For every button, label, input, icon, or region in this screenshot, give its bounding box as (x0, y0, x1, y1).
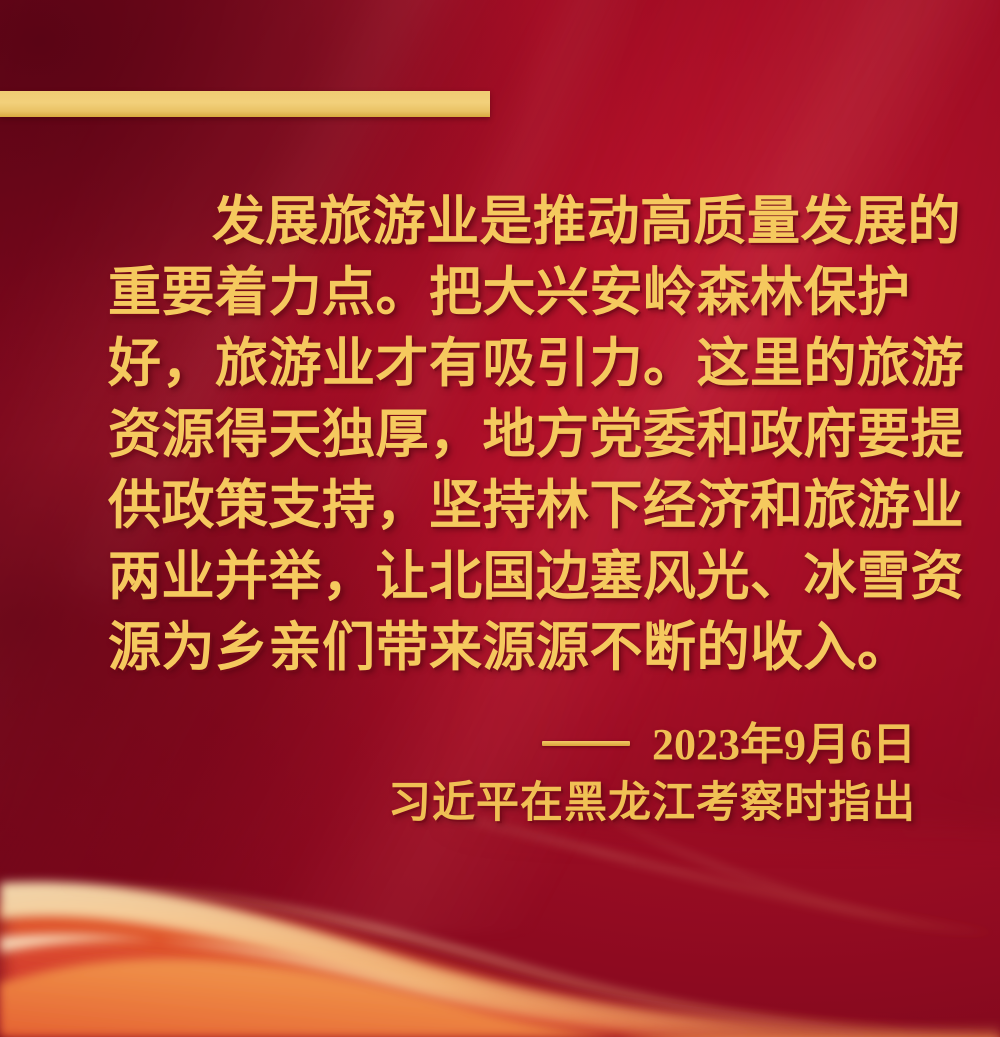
quote-line-4: 资源得天独厚，地方党委和政府要提 (108, 399, 920, 470)
quote-line-1: 发展旅游业是推动高质量发展的 (108, 186, 920, 257)
quote-line-2: 重要着力点。把大兴安岭森林保护 (108, 257, 920, 328)
quote-line-3: 好，旅游业才有吸引力。这里的旅游 (108, 328, 920, 399)
attribution-date-row: 2023年9月6日 (388, 716, 916, 774)
attribution-source: 习近平在黑龙江考察时指出 (388, 774, 916, 832)
em-dash-rule (542, 741, 630, 746)
attribution-block: 2023年9月6日 习近平在黑龙江考察时指出 (388, 716, 916, 832)
quote-line-7: 源为乡亲们带来源源不断的收入。 (108, 612, 920, 683)
quote-text-block: 发展旅游业是推动高质量发展的 重要着力点。把大兴安岭森林保护 好，旅游业才有吸引… (108, 186, 920, 683)
quote-line-5: 供政策支持，坚持林下经济和旅游业 (108, 470, 920, 541)
quote-line-6: 两业并举，让北国边塞风光、冰雪资 (108, 541, 920, 612)
quote-poster: 发展旅游业是推动高质量发展的 重要着力点。把大兴安岭森林保护 好，旅游业才有吸引… (0, 0, 1000, 1037)
attribution-date: 2023年9月6日 (652, 720, 916, 769)
gold-accent-bar (0, 91, 490, 117)
